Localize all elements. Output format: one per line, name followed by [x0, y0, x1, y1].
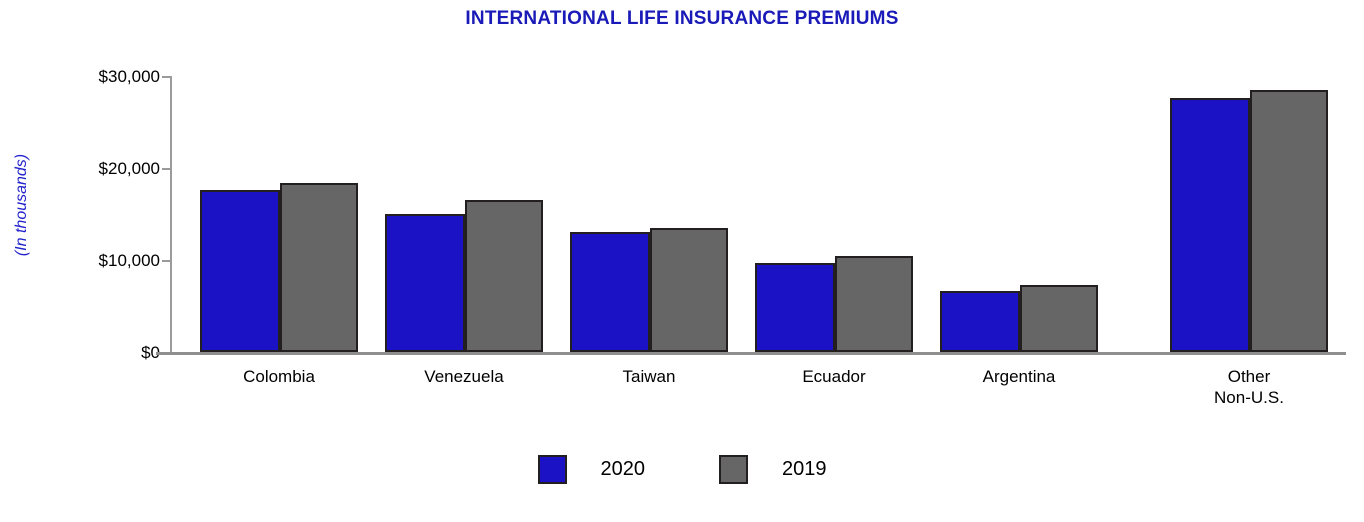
x-category-label-taiwan: Taiwan — [569, 366, 729, 387]
legend-item-2020[interactable]: 2020 — [538, 455, 646, 484]
y-axis-line — [170, 76, 172, 353]
bar-ecuador-2020[interactable] — [755, 263, 835, 352]
plot-area: $30,000 $20,000 $10,000 $0 Co — [0, 0, 1364, 522]
x-category-label-other-non-us: Other Non-U.S. — [1169, 366, 1329, 408]
y-tick-label-10000: $10,000 — [40, 252, 160, 269]
bar-argentina-2020[interactable] — [940, 291, 1020, 352]
x-category-label-argentina: Argentina — [939, 366, 1099, 387]
x-category-label-venezuela: Venezuela — [384, 366, 544, 387]
bar-colombia-2020[interactable] — [200, 190, 280, 352]
bar-colombia-2019[interactable] — [280, 183, 358, 352]
bar-venezuela-2019[interactable] — [465, 200, 543, 352]
bar-taiwan-2020[interactable] — [570, 232, 650, 352]
y-tick-label-30000: $30,000 — [40, 68, 160, 85]
y-tick-label-0: $0 — [40, 344, 160, 361]
legend-item-2019[interactable]: 2019 — [719, 455, 827, 484]
legend-label-2019: 2019 — [782, 458, 827, 481]
bar-argentina-2019[interactable] — [1020, 285, 1098, 352]
legend-swatch-2019-icon — [719, 455, 748, 484]
y-axis-ticklabels: $30,000 $20,000 $10,000 $0 — [40, 0, 160, 522]
chart-container: INTERNATIONAL LIFE INSURANCE PREMIUMS (I… — [0, 0, 1364, 522]
bar-venezuela-2020[interactable] — [385, 214, 465, 352]
bar-ecuador-2019[interactable] — [835, 256, 913, 352]
chart-legend: 2020 2019 — [0, 455, 1364, 484]
x-axis-line — [156, 352, 1346, 355]
x-category-label-ecuador: Ecuador — [754, 366, 914, 387]
y-tick-label-20000: $20,000 — [40, 160, 160, 177]
x-category-label-colombia: Colombia — [199, 366, 359, 387]
legend-label-2020: 2020 — [601, 458, 646, 481]
bar-taiwan-2019[interactable] — [650, 228, 728, 352]
legend-swatch-2020-icon — [538, 455, 567, 484]
bar-other-non-us-2020[interactable] — [1170, 98, 1250, 352]
bar-other-non-us-2019[interactable] — [1250, 90, 1328, 352]
